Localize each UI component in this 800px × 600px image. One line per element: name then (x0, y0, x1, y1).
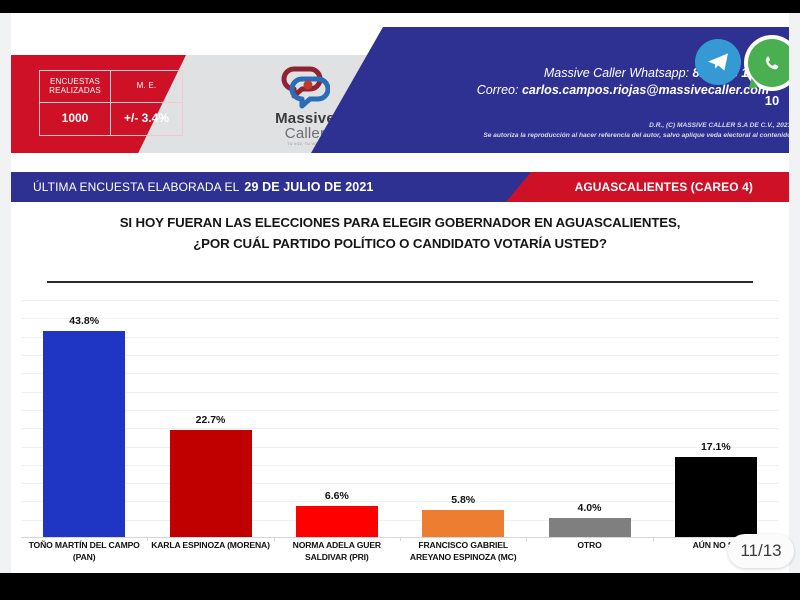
slide-right-gutter (789, 13, 800, 573)
chart-category-label: TOÑO MARTÍN DEL CAMPO(PAN) (21, 540, 147, 563)
chart-bar[interactable] (675, 457, 757, 537)
chart-bar-value-label: 22.7% (196, 414, 226, 426)
logo-word-massive: Massive (275, 111, 335, 126)
contact-email-address[interactable]: carlos.campos.riojas@massivecaller.com (522, 83, 769, 97)
chart-gridline (21, 337, 779, 338)
chart-bar[interactable] (43, 331, 125, 537)
poll-question-line2: ¿POR CUÁL PARTIDO POLÍTICO O CANDIDATO V… (11, 234, 789, 255)
telegram-glyph (705, 49, 731, 75)
chart-category-label: FRANCISCO GABRIELAREYANO ESPINOZA (MC) (400, 540, 526, 563)
banner-date-value: 29 DE JULIO DE 2021 (244, 180, 373, 194)
chart-category-label-line: TOÑO MARTÍN DEL CAMPO (21, 540, 147, 552)
chart-gridline (21, 355, 779, 356)
chart-category-label-line: FRANCISCO GABRIEL (400, 540, 526, 552)
whatsapp-bubble (748, 39, 789, 87)
chart-category-label-line: AREYANO ESPINOZA (MC) (400, 552, 526, 564)
banner-date-group: ÚLTIMA ENCUESTA ELABORADA EL 29 DE JULIO… (33, 172, 373, 202)
chart-bar-group: 43.8% (43, 315, 125, 537)
chart-bar-value-label: 43.8% (69, 315, 99, 327)
question-divider (47, 281, 753, 283)
slide-left-gutter (0, 13, 11, 573)
chart-gridline (21, 373, 779, 374)
telegram-icon[interactable] (695, 39, 741, 85)
chart-plot-area: 43.8%22.7%6.6%5.8%4.0%17.1% (21, 291, 779, 538)
contact-whatsapp-label: Massive Caller Whatsapp: (544, 66, 689, 80)
contact-email-label: Correo: (477, 83, 519, 97)
legal-line-copyright: D.R., (C) MASSIVE CALLER S.A DE C.V., 20… (341, 121, 789, 131)
chart-bar[interactable] (549, 518, 631, 537)
banner-date-prefix: ÚLTIMA ENCUESTA ELABORADA EL (33, 180, 239, 194)
legal-line-reproduction: Se autoriza la reproducción al hacer ref… (341, 131, 789, 141)
chart-category-label: OTRO (526, 540, 652, 552)
chart-bar-group: 5.8% (422, 494, 504, 537)
chart-bar-group: 4.0% (549, 502, 631, 537)
banner-location-label: AGUASCALIENTES (CAREO 4) (575, 172, 753, 202)
chart-category-labels: TOÑO MARTÍN DEL CAMPO(PAN)KARLA ESPINOZA… (21, 540, 779, 573)
social-counter: 10 (753, 93, 789, 108)
speech-bubbles-icon (280, 65, 330, 109)
legal-notice: D.R., (C) MASSIVE CALLER S.A DE C.V., 20… (341, 121, 789, 141)
chart-gridline (21, 520, 779, 521)
chart-gridline (21, 318, 779, 319)
chart-gridline (21, 501, 779, 502)
chart-category-label-line: (PAN) (21, 552, 147, 564)
poll-results-chart: 43.8%22.7%6.6%5.8%4.0%17.1% TOÑO MARTÍN … (11, 291, 789, 573)
slide-header: ENCUESTAS REALIZADAS M. E. 1000 +/- 3.4%… (11, 13, 789, 161)
whatsapp-phone-glyph (758, 49, 786, 77)
logo-word-caller: Caller (285, 126, 325, 141)
chart-bar[interactable] (422, 510, 504, 537)
chart-category-label: KARLA ESPINOZA (MORENA) (147, 540, 273, 552)
chart-gridline (21, 300, 779, 301)
chart-bar-value-label: 4.0% (578, 502, 602, 514)
chart-gridline (21, 410, 779, 411)
chart-bar-value-label: 17.1% (701, 441, 731, 453)
chart-gridline (21, 465, 779, 466)
chart-gridline (21, 447, 779, 448)
stats-value-margin: +/- 3.4% (111, 103, 182, 135)
stats-header-surveys: ENCUESTAS REALIZADAS (40, 71, 111, 103)
chart-category-label-line: SALDIVAR (PRI) (274, 552, 400, 564)
chart-bar-value-label: 5.8% (451, 494, 475, 506)
page-indicator[interactable]: 11/13 (728, 534, 794, 568)
date-location-banner: ÚLTIMA ENCUESTA ELABORADA EL 29 DE JULIO… (11, 172, 789, 202)
chart-gridline (21, 392, 779, 393)
chart-category-label: NORMA ADELA GUERSALDIVAR (PRI) (274, 540, 400, 563)
chart-category-label-line: KARLA ESPINOZA (MORENA) (147, 540, 273, 552)
poll-question: SI HOY FUERAN LAS ELECCIONES PARA ELEGIR… (11, 213, 789, 254)
chart-bar-group: 22.7% (170, 414, 252, 537)
chart-bar-group: 17.1% (675, 441, 757, 537)
chart-bar-value-label: 6.6% (325, 490, 349, 502)
survey-stats-table: ENCUESTAS REALIZADAS M. E. 1000 +/- 3.4% (39, 70, 183, 136)
chart-bar[interactable] (296, 506, 378, 537)
chart-bar-group: 6.6% (296, 490, 378, 537)
chart-category-label-line: OTRO (526, 540, 652, 552)
screenshot-stage: ENCUESTAS REALIZADAS M. E. 1000 +/- 3.4%… (0, 0, 800, 600)
stats-header-margin: M. E. (111, 71, 182, 103)
whatsapp-icon[interactable] (744, 35, 789, 91)
slide-canvas: ENCUESTAS REALIZADAS M. E. 1000 +/- 3.4%… (0, 13, 800, 573)
stats-value-surveys: 1000 (40, 103, 111, 135)
chart-gridline (21, 428, 779, 429)
chart-bar[interactable] (170, 430, 252, 537)
chart-gridline (21, 483, 779, 484)
chart-category-label-line: NORMA ADELA GUER (274, 540, 400, 552)
poll-question-line1: SI HOY FUERAN LAS ELECCIONES PARA ELEGIR… (11, 213, 789, 234)
